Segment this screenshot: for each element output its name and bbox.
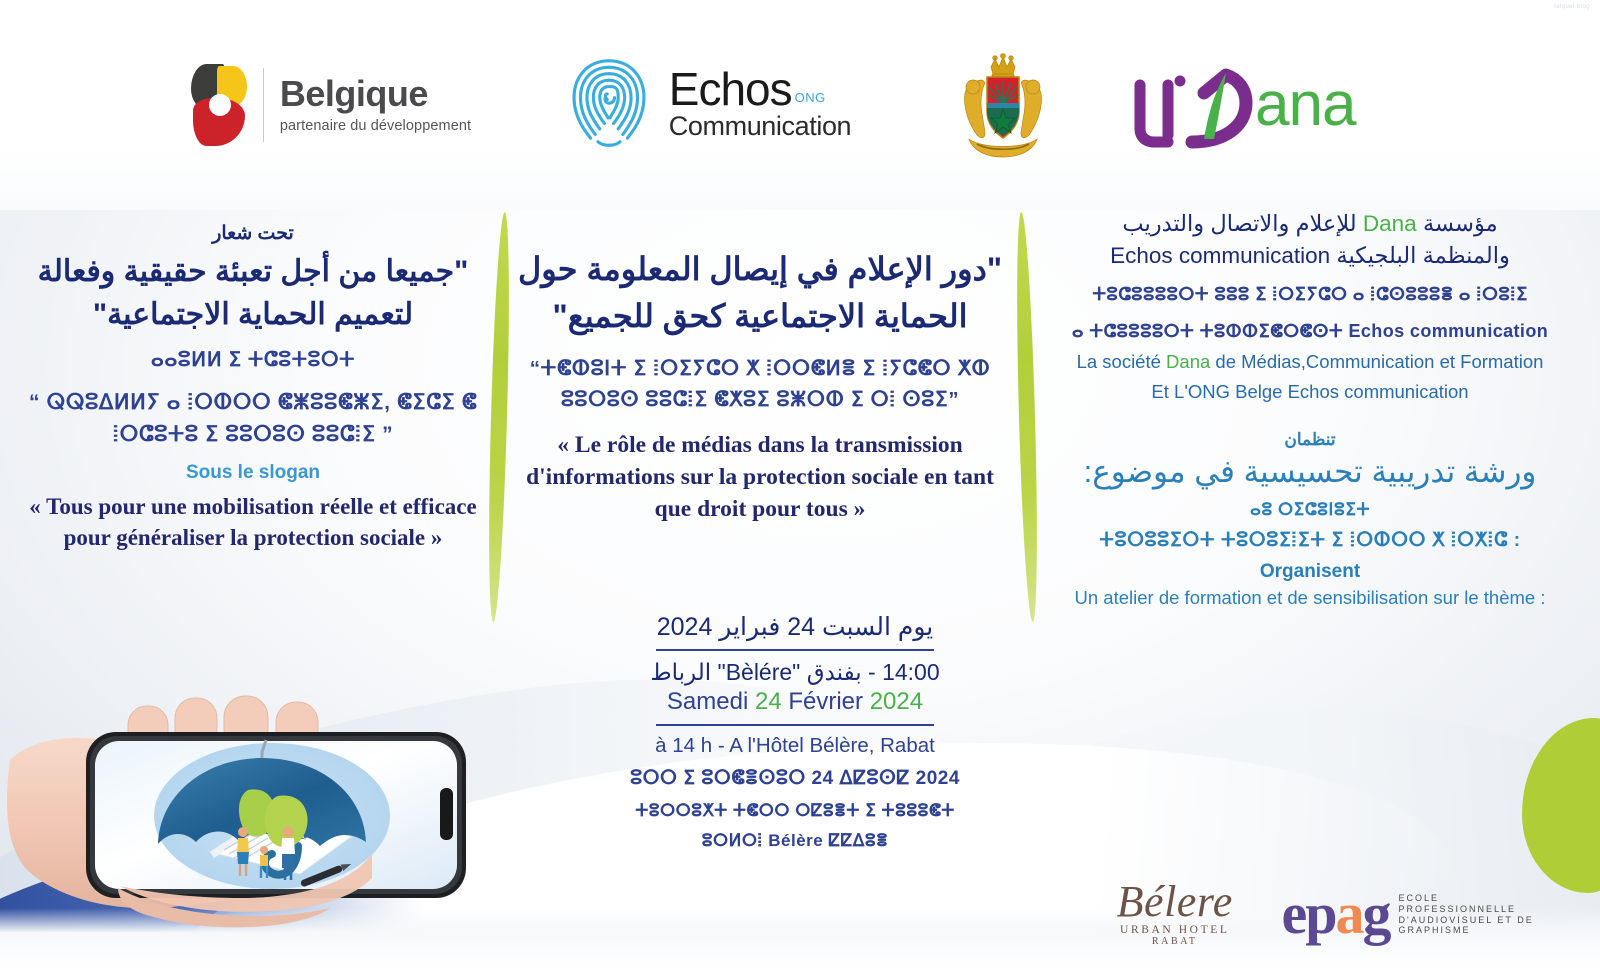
organise-tifinagh-label: ⴰⵓ ⵔⵉⵛⵓⵏⵓⵉⵜ xyxy=(1036,500,1584,520)
organizers-arabic: مؤسسة Dana للإعلام والاتصال والتدريب xyxy=(1036,208,1584,240)
header-logo-row: Belgique partenaire du développement xyxy=(0,40,1600,170)
event-venue-tifinagh: ⵓⵔⵍⵔⵂ Bélère ⵇⵇⵠⵓⴻ xyxy=(630,828,960,854)
organizers-dana-highlight: Dana xyxy=(1363,211,1417,236)
echos-ong-label: ONG xyxy=(795,90,826,105)
green-accent-blob xyxy=(1522,718,1600,893)
event-time-tifinagh: ⵜⵓⵔⵔⵓⵅⵜ ⵜⵞⵔⵔ ⵔⵇⵓⴻⵜ ⵉ ⵜⵓⵓⵓⵞⵜ xyxy=(630,798,960,824)
belgique-title: Belgique xyxy=(280,76,471,113)
epag-word-end: g xyxy=(1363,881,1390,946)
poster-canvas: telquel-blog Belgique partenaire du déve… xyxy=(0,0,1600,970)
event-date-arabic: يوم السبت 24 فبراير 2024 xyxy=(630,612,960,642)
coat-of-arms-icon xyxy=(951,47,1055,163)
slogan-french-label: Sous le slogan xyxy=(14,462,492,484)
fingerprint-icon xyxy=(563,53,655,157)
dana-arabic-icon xyxy=(1134,59,1259,151)
event-title-french: « Le rôle de médias dans la transmission… xyxy=(508,430,1012,525)
logo-echos-communication: Echos ONG Communication xyxy=(542,53,872,157)
event-date-french-month: Février xyxy=(782,688,870,715)
details-rule-bottom xyxy=(656,724,934,726)
epag-line-2: PROFESSIONNELLE xyxy=(1399,904,1600,914)
belgium-flag-icon xyxy=(191,64,247,146)
logo-morocco-coat-of-arms xyxy=(928,47,1078,163)
belere-sub-urban-hotel: URBAN HOTEL xyxy=(1120,924,1229,936)
event-venue-arabic: 14:00 - بفندق "Bèlére" الرباط xyxy=(630,658,960,687)
organizers-french-post: de Médias,Communication et Formation xyxy=(1210,351,1543,372)
epag-line-1: ECOLE xyxy=(1399,893,1600,903)
organizers-arabic-post: للإعلام والاتصال والتدريب xyxy=(1122,211,1363,236)
organise-french-text: Un atelier de formation et de sensibilis… xyxy=(1036,587,1584,609)
logo-divider xyxy=(263,68,264,142)
organizers-french-dana: Dana xyxy=(1166,351,1210,372)
watermark-text: telquel-blog xyxy=(1554,4,1590,10)
slogan-tifinagh-quote: “ ⵕⵕⵓⵠⵍⵍⵢ ⴰ ⵂⵔⵀⵔⵔ ⵞⵥⵓⵓⵞⵥⵉ, ⵞⵉⵛⵉ ⵞ ⵂⵔⵛⵓⵜⵓ… xyxy=(14,387,492,450)
event-venue-french: à 14 h - A l'Hôtel Bélère, Rabat xyxy=(630,733,960,760)
dana-latin-wordmark: ana xyxy=(1255,74,1355,136)
details-rule-top xyxy=(656,649,934,651)
organizers-arabic-pre: مؤسسة xyxy=(1417,211,1498,236)
event-date-tifinagh: ⵓⵔⵔ ⵉ ⵓⵔⵞⴻⵙⵓⵔ 24 ⵠⵇⵓⵙⵇ 2024 xyxy=(630,765,960,793)
epag-word-a: a xyxy=(1336,881,1363,946)
organise-tifinagh-heading: ⵜⵓⵔⵓⵓⵉⵔⵜ ⵜⵓⵔⵓⵉⵂⵉⵜ ⵉ ⵂⵔⵀⵔⵔ ⵅ ⵂⵔⵅⵂⵛ : xyxy=(1036,529,1584,552)
organise-arabic-heading: ورشة تدريبية تحسيسية في موضوع: xyxy=(1036,451,1584,493)
logo-dana: ana xyxy=(1134,59,1434,151)
epag-line-3: D'AUDIOVISUEL ET DE GRAPHISME xyxy=(1399,915,1600,935)
logo-belgique: Belgique partenaire du développement xyxy=(166,64,496,146)
epag-wordmark: epag xyxy=(1282,888,1390,940)
slogan-tifinagh-label: ⴰⴰⵓⵍⵍ ⵉ ⵜⵛⵓⵜⵓⵔⵜ xyxy=(14,346,492,375)
organizers-french-pre: La société xyxy=(1077,351,1166,372)
echos-communication-label: Communication xyxy=(669,111,851,142)
event-title-tifinagh: “ⵜⵞⵀⵓⵏⵜ ⵉ ⵂⵔⵉⵢⵛⵔ ⵅ ⵂⵔⵔⵞⵍⴻ ⵉ ⵂⵢⵛⵞⵔ ⵅⵀ ⵓⵓⵔ… xyxy=(508,353,1012,417)
event-title-arabic: "دور الإعلام في إيصال المعلومة حول الحما… xyxy=(508,246,1012,341)
center-column: "دور الإعلام في إيصال المعلومة حول الحما… xyxy=(508,246,1012,525)
organizers-tifinagh-line2: ⴰ ⵜⵛⵓⵓⵓⵓⵔⵜ ⵜⵓⵀⵀⵉⵞⵔⵞⵙⵜ Echos communicatio… xyxy=(1036,317,1584,346)
event-date-french-year: 2024 xyxy=(870,688,923,715)
belere-wordmark: Bélere xyxy=(1117,881,1233,923)
phone-in-hand-illustration: الحماية الاجتماعية xyxy=(0,640,520,970)
logo-belere-hotel: Bélere URBAN HOTEL RABAT xyxy=(1090,881,1260,947)
organizers-arabic-line2: والمنظمة البلجيكية Echos communication xyxy=(1036,240,1584,272)
organizers-arabic-line2-post: Echos communication xyxy=(1110,243,1330,268)
footer-logo-row: Bélere URBAN HOTEL RABAT epag ECOLE PROF… xyxy=(1090,868,1600,960)
organizers-french-line1: La société Dana de Médias,Communication … xyxy=(1036,348,1584,376)
event-date-french-day: 24 xyxy=(755,688,782,715)
organizers-arabic-line2-pre: والمنظمة البلجيكية xyxy=(1330,243,1510,268)
slogan-arabic-quote: "جميعا من أجل تعبئة حقيقية وفعالة لتعميم… xyxy=(14,250,492,336)
organise-french-label: Organisent xyxy=(1036,561,1584,583)
organise-arabic-label: تنظمان xyxy=(1036,430,1584,450)
epag-word-start: ep xyxy=(1282,881,1336,946)
echos-wordmark: Echos xyxy=(669,68,792,112)
organizers-french-line2: Et L'ONG Belge Echos communication xyxy=(1036,378,1584,406)
slogan-arabic-label: تحت شعار xyxy=(14,222,492,246)
slogan-french-quote: « Tous pour une mobilisation réelle et e… xyxy=(14,492,492,554)
logo-epag: epag ECOLE PROFESSIONNELLE D'AUDIOVISUEL… xyxy=(1282,888,1600,940)
event-details-block: يوم السبت 24 فبراير 2024 14:00 - بفندق "… xyxy=(630,612,960,854)
event-date-french-prefix: Samedi xyxy=(667,688,755,715)
left-column: تحت شعار "جميعا من أجل تعبئة حقيقية وفعا… xyxy=(14,222,492,554)
organizers-tifinagh-line1: ⵜⵓⵛⵓⵓⵓⵓⵔⵜ ⵓⵓⵓ ⵉ ⵂⵔⵉⵢⵛⵔ ⴰ ⵂⵛⵙⵓⵓⵓⴻ ⴰ ⵂⵔⵓⵂⵉ xyxy=(1036,280,1584,309)
event-date-french: Samedi 24 Février 2024 xyxy=(630,687,960,717)
belere-sub-rabat: RABAT xyxy=(1152,936,1198,947)
belgique-subtitle: partenaire du développement xyxy=(280,118,471,134)
right-column: مؤسسة Dana للإعلام والاتصال والتدريب وال… xyxy=(1036,208,1584,609)
